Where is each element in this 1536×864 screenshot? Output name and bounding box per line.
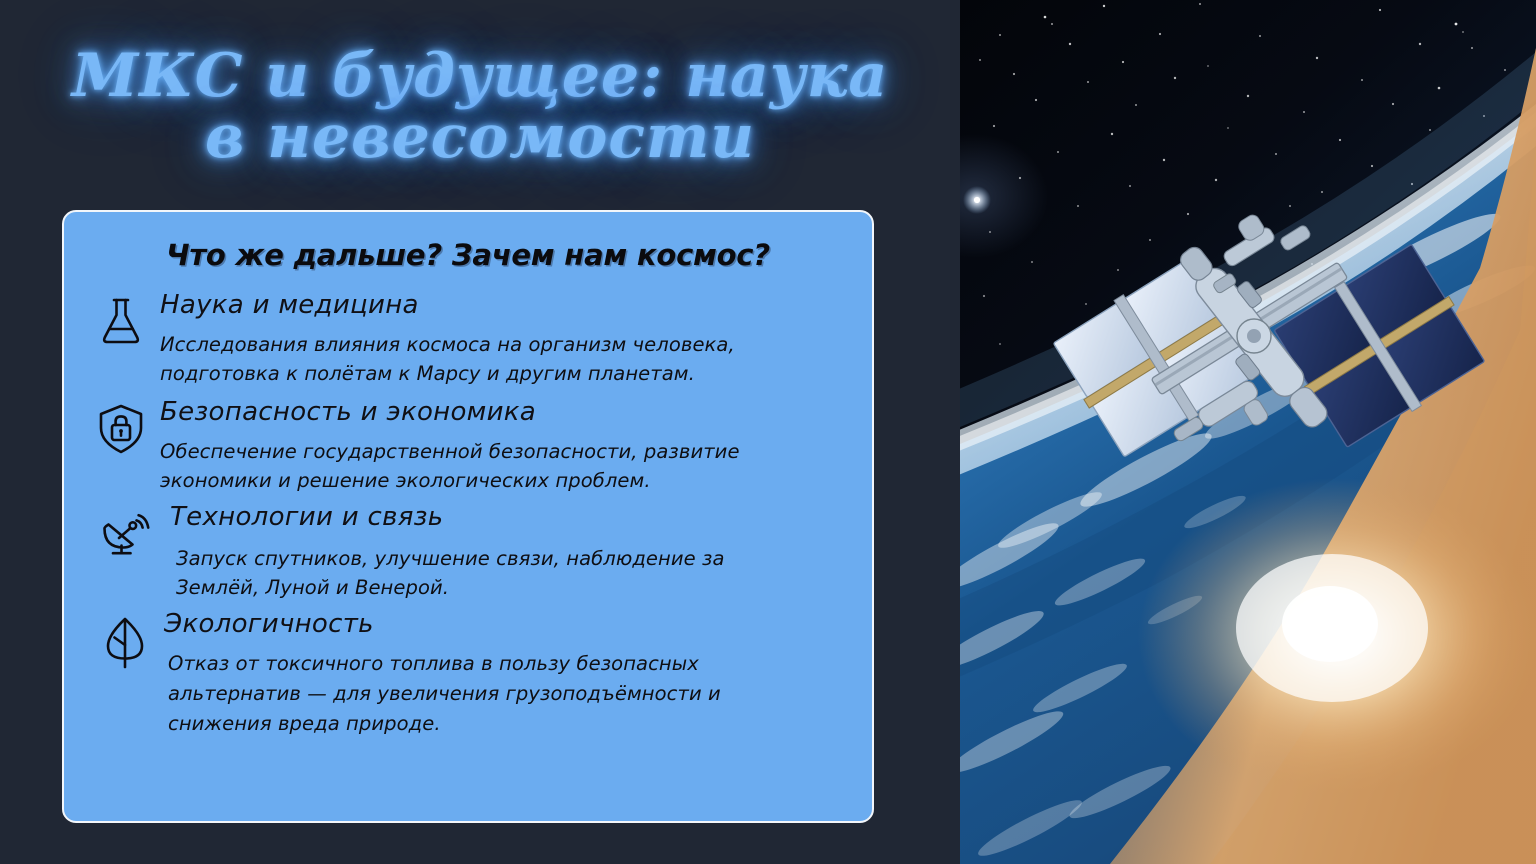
slide-title: МКС и будущее: наука в невесомости [60, 46, 900, 168]
satellite-dish-icon [94, 502, 156, 560]
flask-icon [90, 290, 152, 348]
section-body: Отказ от токсичного топлива в пользу без… [164, 649, 804, 738]
section-title: Экологичность [164, 609, 872, 640]
section-text: Экологичность Отказ от токсичного топлив… [156, 609, 872, 739]
shield-lock-icon [90, 397, 152, 455]
section-body: Обеспечение государственной безопасности… [160, 437, 800, 496]
card-heading: Что же дальше? Зачем нам космос? [64, 238, 872, 272]
section-body: Исследования влияния космоса на организм… [160, 330, 800, 389]
title-line-1: МКС и будущее: наука [60, 46, 900, 107]
section-title: Наука и медицина [160, 290, 872, 321]
section-text: Наука и медицина Исследования влияния ко… [152, 290, 872, 389]
content-card: Что же дальше? Зачем нам космос? Наука и… [62, 210, 874, 823]
iss-photo-graphic [960, 0, 1536, 864]
title-line-2: в невесомости [60, 107, 900, 168]
section-science-medicine: Наука и медицина Исследования влияния ко… [64, 290, 872, 389]
section-ecology: Экологичность Отказ от токсичного топлив… [64, 609, 872, 739]
iss-orbit-photo [960, 0, 1536, 864]
section-text: Технологии и связь Запуск спутников, улу… [156, 502, 872, 603]
section-body: Запуск спутников, улучшение связи, наблю… [170, 544, 810, 603]
section-security-economy: Безопасность и экономика Обеспечение гос… [64, 397, 872, 496]
section-technology-communication: Технологии и связь Запуск спутников, улу… [64, 502, 872, 603]
section-list: Наука и медицина Исследования влияния ко… [64, 288, 872, 738]
section-title: Технологии и связь [170, 502, 872, 533]
section-text: Безопасность и экономика Обеспечение гос… [152, 397, 872, 496]
section-title: Безопасность и экономика [160, 397, 872, 428]
presentation-slide: МКС и будущее: наука в невесомости Что ж… [0, 0, 1536, 864]
leaf-icon [94, 609, 156, 671]
